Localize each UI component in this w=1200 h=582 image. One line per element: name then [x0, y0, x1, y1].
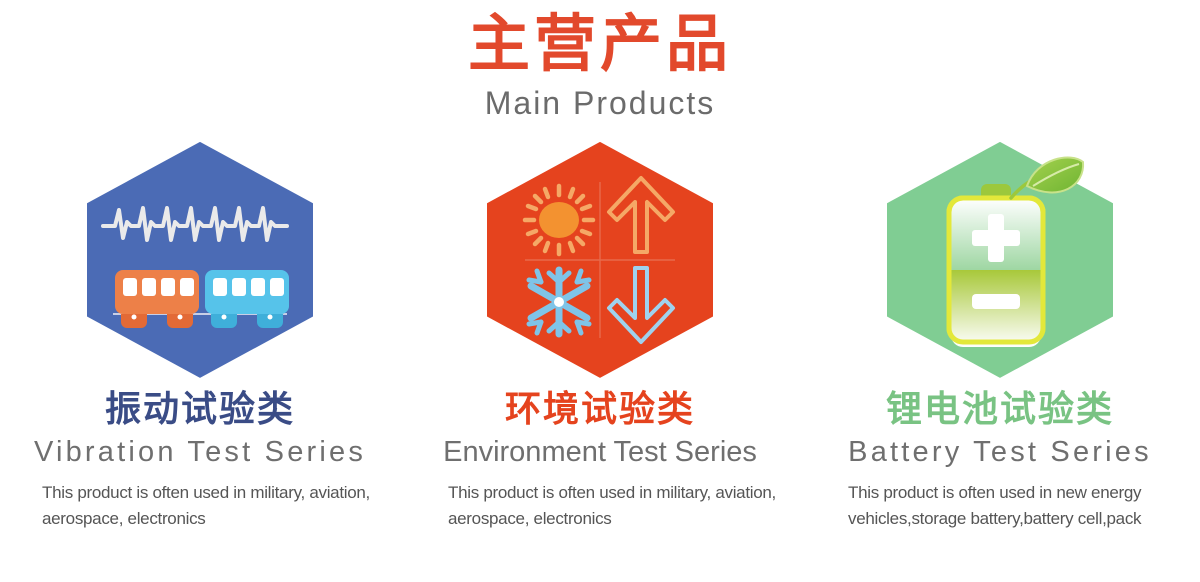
arrow-up-icon: [609, 178, 673, 252]
train-car-orange: [115, 270, 199, 328]
product-card-vibration[interactable]: 振动试验类 Vibration Test Series This product…: [0, 142, 400, 533]
product-label-chinese: 振动试验类: [105, 386, 295, 431]
battery-hexagon-icon[interactable]: [887, 142, 1113, 378]
page-title-english: Main Products: [0, 81, 1200, 126]
leaf-icon: [1027, 157, 1083, 192]
environment-artwork: [487, 142, 713, 378]
vibration-hexagon-icon[interactable]: [87, 142, 313, 378]
product-label-english: Environment Test Series: [443, 433, 757, 472]
product-label-english: Battery Test Series: [848, 433, 1152, 472]
product-card-environment[interactable]: 环境试验类 Environment Test Series This produ…: [400, 142, 800, 533]
product-label-english: Vibration Test Series: [34, 433, 366, 472]
page-header: 主营产品 Main Products: [0, 0, 1200, 126]
page-title-chinese: 主营产品: [0, 12, 1200, 77]
sun-icon: [525, 186, 593, 254]
train-car-blue: [205, 270, 289, 328]
product-label-chinese: 环境试验类: [505, 386, 695, 431]
battery-minus-symbol: [972, 294, 1020, 309]
snowflake-icon: [529, 270, 589, 334]
product-card-battery[interactable]: 锂电池试验类 Battery Test Series This product …: [800, 142, 1200, 533]
product-description: This product is often used in military, …: [20, 480, 380, 533]
product-description: This product is often used in new energy…: [820, 480, 1180, 533]
environment-hexagon-icon[interactable]: [487, 142, 713, 378]
product-description: This product is often used in military, …: [420, 480, 780, 533]
product-label-chinese: 锂电池试验类: [886, 386, 1114, 431]
battery-artwork: [887, 142, 1113, 378]
arrow-down-icon: [609, 268, 673, 342]
vibration-artwork: [87, 142, 313, 378]
waveform-line: [103, 208, 287, 240]
product-columns: 振动试验类 Vibration Test Series This product…: [0, 142, 1200, 533]
